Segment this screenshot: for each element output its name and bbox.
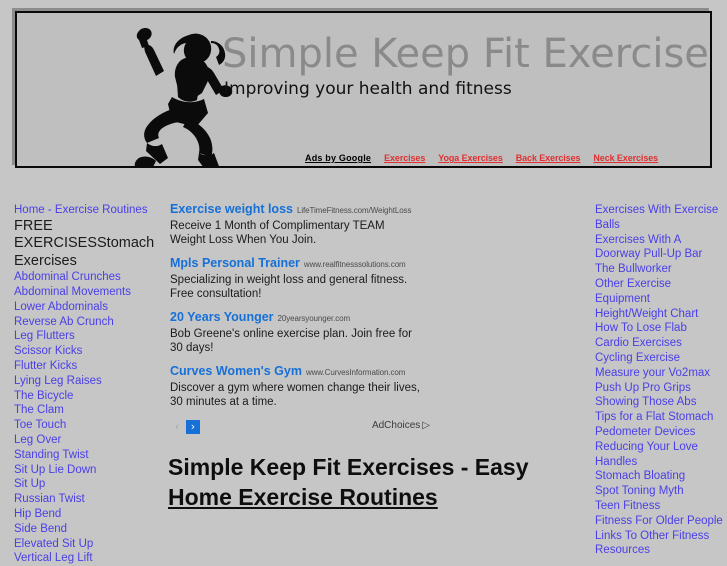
sidebar-item-flutter-kicks[interactable]: Flutter Kicks [14, 359, 144, 374]
ad-title-link[interactable]: Exercise weight loss [170, 202, 293, 216]
banner-title: Simple Keep Fit Exercises [222, 31, 712, 77]
ad-title-row: Exercise weight lossLifeTimeFitness.com/… [170, 202, 427, 218]
sidebar-item-reducing-your-love-handles[interactable]: Reducing Your Love Handles [595, 440, 723, 470]
banner-inner: Simple Keep Fit Exercises Improving your… [15, 11, 712, 168]
ad-description: Specializing in weight loss and general … [170, 273, 422, 301]
sidebar-item-russian-twist[interactable]: Russian Twist [14, 492, 144, 507]
ad-url: 20yearsyounger.com [278, 314, 350, 323]
ad-title-row: Curves Women's Gymwww.CurvesInformation.… [170, 364, 427, 380]
ad-title-link[interactable]: Mpls Personal Trainer [170, 256, 300, 270]
ad-title-row: Mpls Personal Trainerwww.realfitnesssolu… [170, 256, 427, 272]
banner-ad-link-neck-exercises[interactable]: Neck Exercises [593, 153, 658, 163]
sidebar-heading-free: FREE [14, 218, 144, 236]
ad-title-link[interactable]: Curves Women's Gym [170, 364, 302, 378]
adchoices-badge[interactable]: AdChoices▷ [372, 420, 430, 431]
google-ads-block: Exercise weight lossLifeTimeFitness.com/… [160, 196, 427, 438]
left-sidebar: Home - Exercise Routines FREE EXERCISESS… [14, 203, 144, 566]
sidebar-item-showing-those-abs[interactable]: Showing Those Abs [595, 395, 723, 410]
main-content: Exercise weight lossLifeTimeFitness.com/… [160, 196, 585, 527]
sidebar-item-lying-leg-raises[interactable]: Lying Leg Raises [14, 374, 144, 389]
adchoices-triangle-icon: ▷ [422, 420, 430, 431]
sidebar-item-height-weight-chart[interactable]: Height/Weight Chart [595, 307, 723, 322]
sidebar-item-hip-bend[interactable]: Hip Bend [14, 507, 144, 522]
sidebar-item-scissor-kicks[interactable]: Scissor Kicks [14, 344, 144, 359]
sidebar-item-stomach-bloating[interactable]: Stomach Bloating [595, 469, 723, 484]
sidebar-item-the-bullworker[interactable]: The Bullworker [595, 262, 723, 277]
adchoices-label: AdChoices [372, 420, 420, 431]
sidebar-item-pedometer-devices[interactable]: Pedometer Devices [595, 425, 723, 440]
ad-unit: Curves Women's Gymwww.CurvesInformation.… [170, 364, 427, 409]
page-title: Simple Keep Fit Exercises - Easy Home Ex… [160, 452, 568, 512]
page-title-line2: Home Exercise Routines [168, 484, 438, 510]
ad-description: Bob Greene's online exercise plan. Join … [170, 327, 422, 355]
sidebar-item-elevated-sit-up[interactable]: Elevated Sit Up [14, 537, 144, 552]
banner-google-ads-bar: Ads by Google Exercises Yoga Exercises B… [305, 153, 658, 163]
sidebar-item-links-to-other-fitness-resources[interactable]: Links To Other Fitness Resources [595, 529, 723, 559]
sidebar-item-standing-twist[interactable]: Standing Twist [14, 448, 144, 463]
ad-url: www.CurvesInformation.com [306, 368, 405, 377]
banner-subtitle: Improving your health and fitness [224, 79, 512, 99]
banner-ad-link-exercises[interactable]: Exercises [384, 153, 425, 163]
sidebar-item-the-bicycle[interactable]: The Bicycle [14, 389, 144, 404]
sidebar-item-exercises-with-exercise-balls[interactable]: Exercises With Exercise Balls [595, 203, 723, 233]
sidebar-item-side-bend[interactable]: Side Bend [14, 522, 144, 537]
sidebar-item-exercises-with-a-doorway-pull-up-bar[interactable]: Exercises With A Doorway Pull-Up Bar [595, 233, 723, 263]
ad-title-link[interactable]: 20 Years Younger [170, 310, 274, 324]
ad-unit: 20 Years Younger20yearsyounger.com Bob G… [170, 310, 427, 355]
ad-unit: Mpls Personal Trainerwww.realfitnesssolu… [170, 256, 427, 301]
sidebar-item-fitness-for-older-people[interactable]: Fitness For Older People [595, 514, 723, 529]
ad-prev-arrow-icon[interactable]: ‹ [170, 420, 184, 434]
ad-url: LifeTimeFitness.com/WeightLoss [297, 206, 411, 215]
sidebar-item-cycling-exercise[interactable]: Cycling Exercise [595, 351, 723, 366]
sidebar-item-abdominal-crunches[interactable]: Abdominal Crunches [14, 270, 144, 285]
page-title-line1: Simple Keep Fit Exercises - Easy [168, 454, 529, 480]
site-banner: Simple Keep Fit Exercises Improving your… [12, 8, 712, 168]
ad-next-arrow-icon[interactable]: › [186, 420, 200, 434]
right-sidebar: Exercises With Exercise Balls Exercises … [595, 203, 723, 558]
sidebar-item-toe-touch[interactable]: Toe Touch [14, 418, 144, 433]
sidebar-item-sit-up[interactable]: Sit Up [14, 477, 144, 492]
sidebar-item-spot-toning-myth[interactable]: Spot Toning Myth [595, 484, 723, 499]
sidebar-item-measure-your-vo2max[interactable]: Measure your Vo2max [595, 366, 723, 381]
ad-url: www.realfitnesssolutions.com [304, 260, 406, 269]
sidebar-item-other-exercise-equipment[interactable]: Other Exercise Equipment [595, 277, 723, 307]
sidebar-item-leg-flutters[interactable]: Leg Flutters [14, 329, 144, 344]
sidebar-item-abdominal-movements[interactable]: Abdominal Movements [14, 285, 144, 300]
sidebar-item-teen-fitness[interactable]: Teen Fitness [595, 499, 723, 514]
sidebar-item-lower-abdominals[interactable]: Lower Abdominals [14, 300, 144, 315]
sidebar-item-leg-over[interactable]: Leg Over [14, 433, 144, 448]
sidebar-heading-exercises: Exercises [14, 253, 144, 271]
sidebar-item-sit-up-lie-down[interactable]: Sit Up Lie Down [14, 463, 144, 478]
ad-title-row: 20 Years Younger20yearsyounger.com [170, 310, 427, 326]
ad-footer: ‹› AdChoices▷ [170, 418, 430, 438]
ad-unit: Exercise weight lossLifeTimeFitness.com/… [170, 202, 427, 247]
sidebar-item-tips-for-a-flat-stomach[interactable]: Tips for a Flat Stomach [595, 410, 723, 425]
sidebar-item-reverse-ab-crunch[interactable]: Reverse Ab Crunch [14, 315, 144, 330]
sidebar-item-home-exercise-routines[interactable]: Home - Exercise Routines [14, 203, 144, 218]
sidebar-item-how-to-lose-flab[interactable]: How To Lose Flab [595, 321, 723, 336]
ad-description: Discover a gym where women change their … [170, 381, 422, 409]
ads-by-google-label[interactable]: Ads by Google [305, 153, 371, 163]
sidebar-item-vertical-leg-lift[interactable]: Vertical Leg Lift [14, 551, 144, 566]
sidebar-item-push-up-pro-grips[interactable]: Push Up Pro Grips [595, 381, 723, 396]
banner-ad-link-yoga-exercises[interactable]: Yoga Exercises [438, 153, 502, 163]
sidebar-item-the-clam[interactable]: The Clam [14, 403, 144, 418]
sidebar-item-cardio-exercises[interactable]: Cardio Exercises [595, 336, 723, 351]
banner-ad-link-back-exercises[interactable]: Back Exercises [516, 153, 581, 163]
ad-description: Receive 1 Month of Complimentary TEAM We… [170, 219, 422, 247]
sidebar-heading-exercises-stomach: EXERCISESStomach [14, 235, 144, 253]
